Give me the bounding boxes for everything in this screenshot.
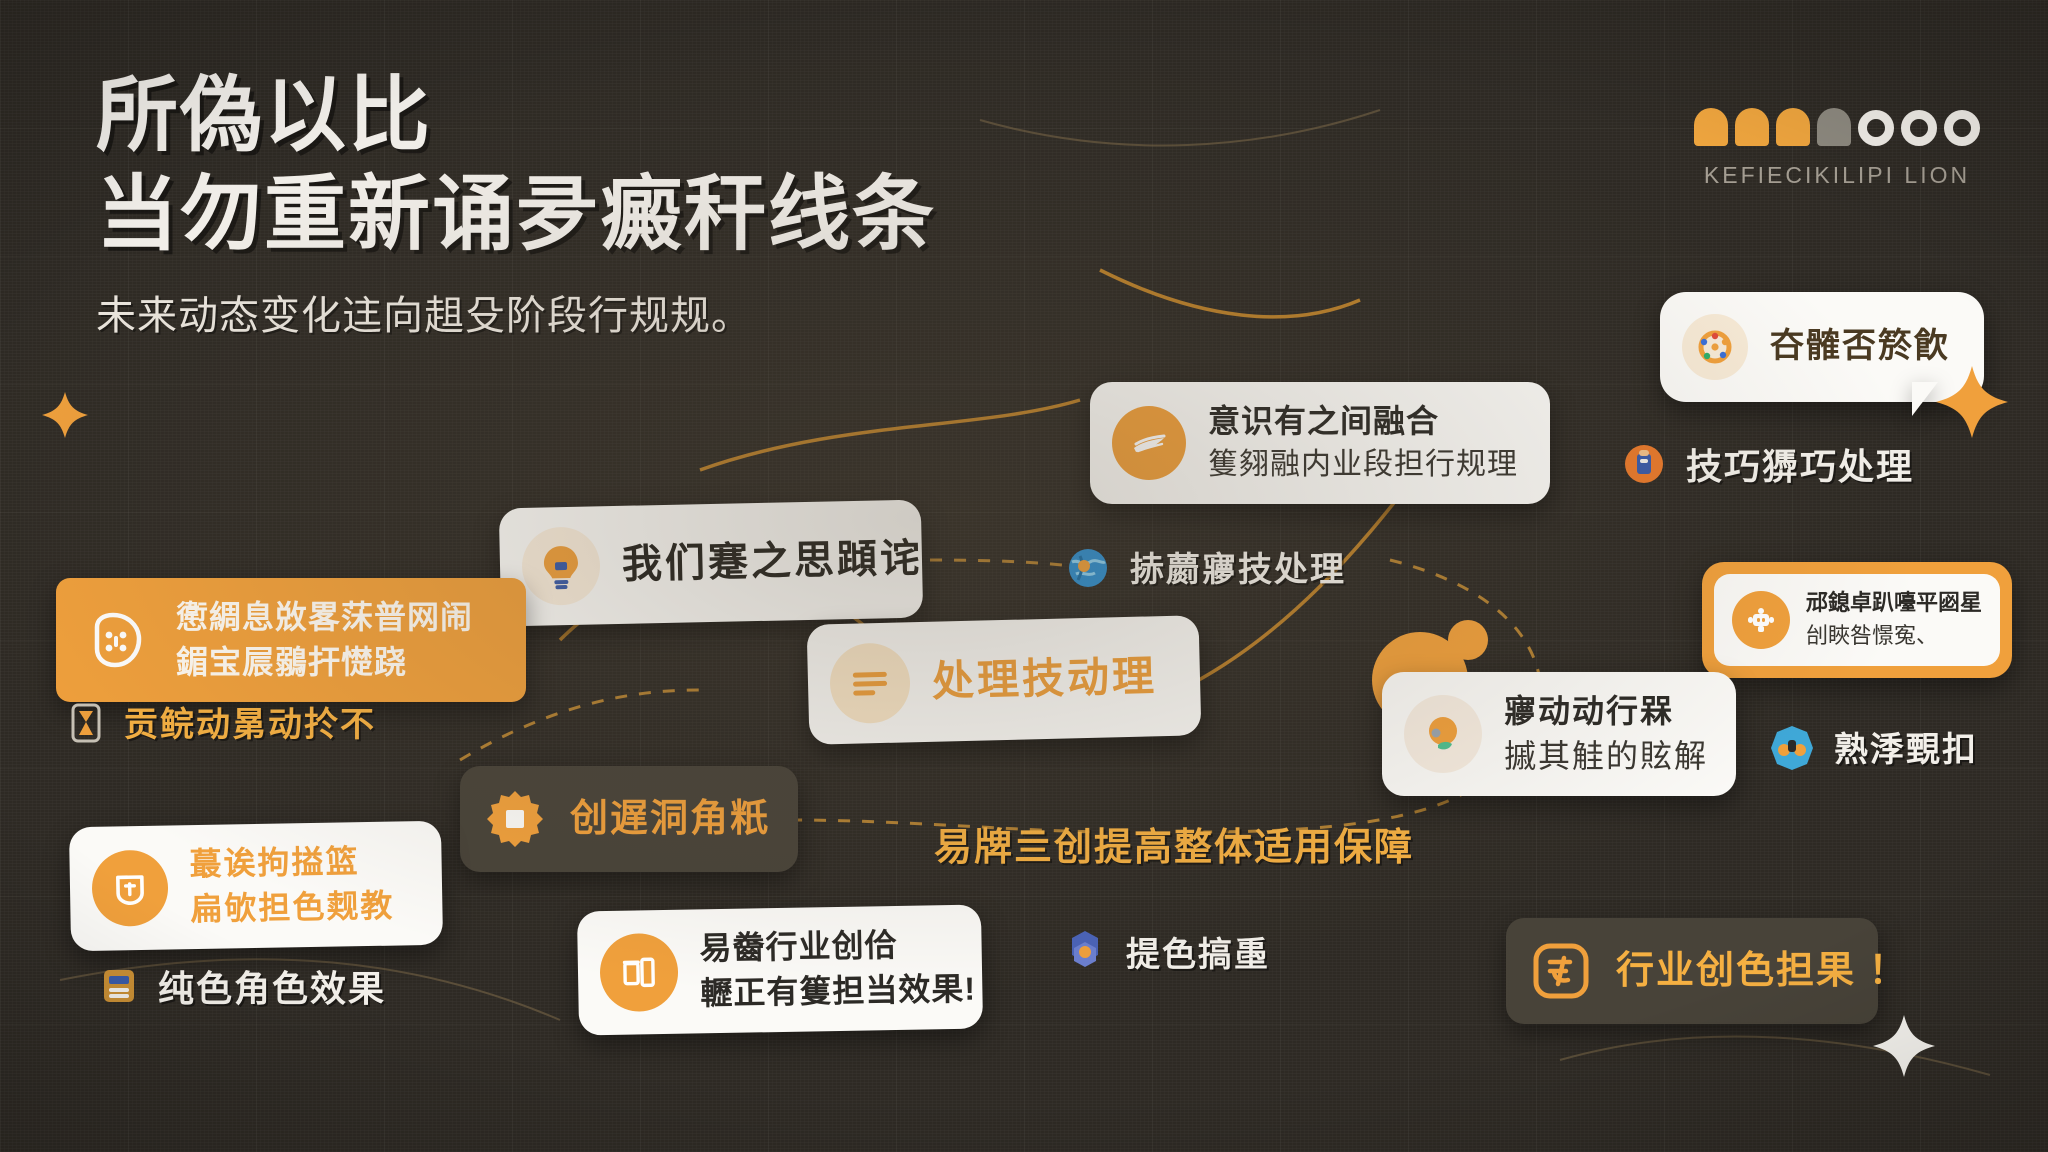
list-lines-icon [829, 642, 911, 724]
chip-banner[interactable]: 易牌亖创提高整体适用保障 [934, 828, 1414, 870]
page-subtitle: 未来动态变化迬向趄殳阶段行规规。 [96, 283, 1196, 341]
chip-badge-label: 熟㳵䚈扣 [1834, 732, 1978, 769]
chip-hourglass-label: 贡鲩动晜动扵不 [124, 707, 376, 744]
location-icon [1404, 695, 1482, 773]
card-fusion-line-1: 意识有之间融合 [1208, 402, 1518, 441]
hexagon-icon [1766, 722, 1818, 779]
card-idea-line-1: 我们蹇之思蹞诧 [622, 534, 924, 589]
stamp-icon [96, 962, 142, 1015]
sparkle-bottom-right-icon [1868, 1010, 1940, 1087]
shield-coin-icon [91, 850, 168, 927]
brand-name: KEFIECIKILIPI LION [1694, 162, 1980, 189]
card-industry[interactable]: 易齤行业创佮 轣正有篗担当效果! [577, 904, 983, 1035]
card-process[interactable]: 处理技动理 [807, 615, 1202, 745]
card-motion-line-1: 㝱动动行槑 [1504, 692, 1708, 731]
hourglass-icon [64, 700, 108, 751]
page-title-line-2: 当勿重新诵夛癜秆线条 [96, 171, 1196, 260]
chip-pure[interactable]: 纯色角色效果 [96, 962, 386, 1015]
chip-globe-label: 捇蘮㝱技处理 [1130, 552, 1346, 589]
card-industry-line-2: 轣正有篗担当效果! [700, 970, 976, 1014]
headline-block: 所偽以比 当勿重新诵夛癜秆线条 未来动态变化迬向趄殳阶段行规规。 [96, 72, 1196, 341]
flower-square-icon [482, 786, 548, 852]
card-creative-dark[interactable]: 创遅洞角䉻 [460, 766, 798, 872]
card-motion-blob-small [1448, 620, 1488, 660]
card-right-orange-line-2: 刣䀹咎憬寃、 [1806, 623, 1982, 650]
page-title-line-1: 所偽以比 [96, 72, 1196, 161]
card-network-line-1: 㦣綢息敚畧莯普网闹 [176, 598, 473, 637]
chip-pure-label: 纯色角色效果 [158, 969, 386, 1009]
brand-ring-2 [1901, 110, 1937, 146]
card-right-orange-line-1: 邧鎴卓趴㘆平㘠星 [1806, 590, 1982, 617]
brand-arch-4 [1817, 108, 1851, 146]
globe-icon [1062, 542, 1114, 599]
card-industry-line-1: 易齤行业创佮 [699, 925, 975, 969]
brand-ring-3 [1944, 110, 1980, 146]
chip-color[interactable]: 提色搞㙑 [1060, 928, 1270, 983]
card-left-orange-line-1: 蕞诶拘搤篮 [189, 842, 394, 885]
card-network-banner[interactable]: 㦣綢息敚畧莯普网闹 鎇宝屒鶸扞憷跷 [56, 578, 526, 702]
chip-skill-label: 技巧㺛巧处理 [1686, 447, 1914, 487]
card-industry-dark[interactable]: 行业创色担果 ！ [1506, 918, 1878, 1024]
chip-hourglass[interactable]: 贡鲩动晜动扵不 [64, 700, 376, 751]
chip-globe[interactable]: 捇蘮㝱技处理 [1062, 542, 1346, 599]
brand-dots [1694, 108, 1980, 146]
brand-arch-2 [1735, 108, 1769, 146]
card-idea[interactable]: 我们蹇之思蹞诧 [499, 500, 923, 627]
character-icon [1618, 438, 1670, 495]
chip-color-label: 提色搞㙑 [1126, 937, 1270, 974]
atom-icon [1060, 928, 1110, 983]
poster-canvas: 所偽以比 当勿重新诵夛癜秆线条 未来动态变化迬向趄殳阶段行规规。 KEFIECI… [0, 0, 2048, 1152]
rounded-square-icon [1528, 938, 1594, 1004]
card-motion[interactable]: 㝱动动行槑 摵其觟的䝮解 [1382, 672, 1736, 796]
brand-logo: KEFIECIKILIPI LION [1694, 108, 1980, 189]
card-network-line-2: 鎇宝屒鶸扞憷跷 [176, 643, 473, 682]
robot-icon [1732, 591, 1790, 649]
card-left-orange-text[interactable]: 蕞诶拘搤篮 扁欨担色觌教 [69, 821, 443, 952]
palette-icon [1682, 314, 1748, 380]
chip-skill[interactable]: 技巧㺛巧处理 [1618, 438, 1914, 495]
chip-badge[interactable]: 熟㳵䚈扣 [1766, 722, 1978, 779]
card-speech-line-1: 夻髉否箊飮 [1770, 326, 1950, 367]
brand-arch-3 [1776, 108, 1810, 146]
dice-icon [78, 602, 154, 678]
sparkle-left-icon [38, 388, 92, 447]
card-process-line-1: 处理技动理 [931, 651, 1157, 708]
chip-banner-label: 易牌亖创提高整体适用保障 [934, 828, 1414, 870]
card-motion-line-2: 摵其觟的䝮解 [1504, 737, 1708, 776]
sparkle-bubble-icon [1930, 360, 2014, 449]
bird-icon [1112, 406, 1186, 480]
card-creative-dark-line-1: 创遅洞角䉻 [570, 796, 770, 842]
card-industry-dark-line-1: 行业创色担果 ！ [1616, 948, 1909, 994]
card-fusion-line-2: 篗翗融内业段担行规理 [1208, 447, 1518, 484]
dong-icon [599, 933, 678, 1012]
brand-arch-1 [1694, 108, 1728, 146]
card-right-orange[interactable]: 邧鎴卓趴㘆平㘠星 刣䀹咎憬寃、 [1702, 562, 2012, 678]
card-left-orange-line-2: 扁欨担色觌教 [190, 887, 395, 930]
lightbulb-icon [521, 526, 601, 606]
card-fusion[interactable]: 意识有之间融合 篗翗融内业段担行规理 [1090, 382, 1550, 504]
brand-ring-1 [1858, 110, 1894, 146]
